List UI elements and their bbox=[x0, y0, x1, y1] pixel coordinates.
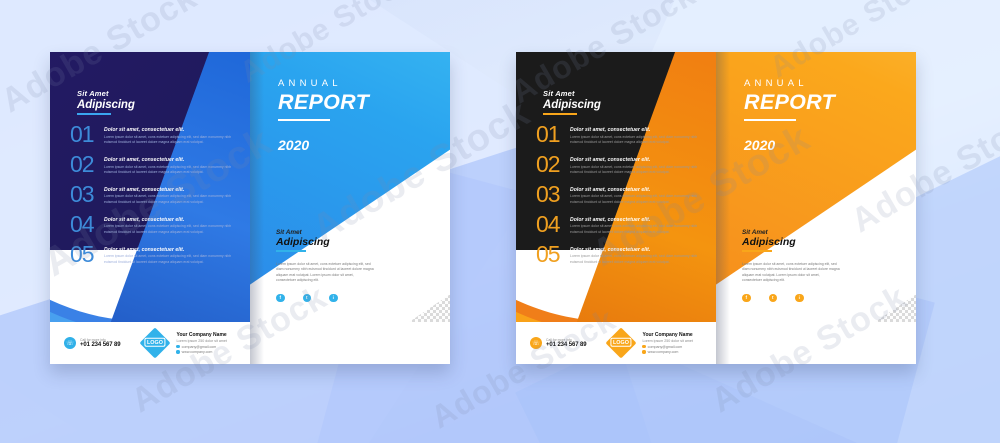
list-item: 03 Dolor sit amet, consectetuer elit. Lo… bbox=[536, 184, 702, 205]
blue-brochure-spread: Sit Amet Adipiscing 01 Dolor sit amet, c… bbox=[50, 52, 450, 364]
orange-cover-title-block: ANNUAL REPORT 2020 bbox=[744, 78, 835, 153]
list-item-body: Lorem ipsum dolor sit amet, cons ectetue… bbox=[570, 224, 702, 235]
company-name: Your Company Name bbox=[176, 332, 226, 338]
back-subtitle: Sit Amet bbox=[742, 229, 840, 236]
list-item-body: Lorem ipsum dolor sit amet, cons ectetue… bbox=[570, 194, 702, 205]
list-item-body: Lorem ipsum dolor sit amet, cons ectetue… bbox=[570, 135, 702, 146]
orange-social-icons: f t i bbox=[742, 294, 840, 303]
blue-contact-bar: ☏ Call for more info +01 234 567 89 LOGO… bbox=[50, 322, 250, 364]
cover-year: 2020 bbox=[744, 137, 835, 153]
orange-inside-content: Sit Amet Adipiscing 01 Dolor sit amet, c… bbox=[516, 52, 716, 364]
orange-inside-subtitle: Sit Amet bbox=[543, 89, 601, 98]
list-item-title: Dolor sit amet, consectetuer elit. bbox=[570, 217, 702, 223]
company-email-row: company@gmail.com bbox=[642, 345, 692, 349]
globe-icon bbox=[642, 350, 645, 353]
list-item: 01 Dolor sit amet, consectetuer elit. Lo… bbox=[536, 124, 702, 145]
list-item-body: Lorem ipsum dolor sit amet, cons ectetue… bbox=[104, 194, 236, 205]
phone-number: +01 234 567 89 bbox=[546, 342, 586, 348]
blue-phone-block: ☏ Call for more info +01 234 567 89 bbox=[64, 337, 120, 349]
logo-text: LOGO bbox=[611, 338, 632, 347]
list-item-title: Dolor sit amet, consectetuer elit. bbox=[570, 127, 702, 133]
blue-social-icons: f t i bbox=[276, 294, 374, 303]
company-email: company@gmail.com bbox=[648, 345, 683, 349]
orange-inside-title-rule bbox=[543, 113, 577, 115]
logo-badge: LOGO bbox=[606, 327, 637, 358]
list-item-body: Lorem ipsum dolor sit amet, cons ectetue… bbox=[104, 135, 236, 146]
list-item-body: Lorem ipsum dolor sit amet, cons ectetue… bbox=[104, 254, 236, 265]
orange-cover-bottom-band bbox=[716, 322, 916, 364]
phone-icon: ☏ bbox=[530, 337, 542, 349]
blue-inside-content: Sit Amet Adipiscing 01 Dolor sit amet, c… bbox=[50, 52, 250, 364]
company-website: www.company.com bbox=[182, 350, 213, 354]
list-item-number: 05 bbox=[70, 244, 104, 265]
blue-back-text-block: Sit Amet Adipiscing Lorem ipsum dolor si… bbox=[276, 229, 374, 302]
list-item-number: 03 bbox=[536, 184, 570, 205]
orange-inside-title: Adipiscing bbox=[543, 99, 601, 111]
back-body-text: Lorem ipsum dolor sit amet, cons ectetue… bbox=[742, 262, 840, 284]
list-item-body: Lorem ipsum dolor sit amet, cons ectetue… bbox=[104, 165, 236, 176]
company-tagline: Lorem ipsum 250 dolor sit amet bbox=[176, 339, 226, 343]
call-label: Call for more info bbox=[80, 338, 120, 342]
email-icon bbox=[176, 345, 179, 348]
blue-company-block: Your Company Name Lorem ipsum 250 dolor … bbox=[176, 332, 226, 354]
twitter-icon[interactable]: t bbox=[303, 294, 312, 303]
orange-gutter-shadow bbox=[716, 52, 730, 364]
list-item-number: 03 bbox=[70, 184, 104, 205]
phone-icon: ☏ bbox=[64, 337, 76, 349]
orange-numbered-list: 01 Dolor sit amet, consectetuer elit. Lo… bbox=[536, 124, 702, 274]
blue-cover-title-block: ANNUAL REPORT 2020 bbox=[278, 78, 369, 153]
list-item-body: Lorem ipsum dolor sit amet, cons ectetue… bbox=[570, 254, 702, 265]
company-email: company@gmail.com bbox=[182, 345, 217, 349]
company-tagline: Lorem ipsum 250 dolor sit amet bbox=[642, 339, 692, 343]
list-item-title: Dolor sit amet, consectetuer elit. bbox=[104, 187, 236, 193]
company-website-row: www.company.com bbox=[176, 350, 226, 354]
cover-report-label: REPORT bbox=[278, 90, 369, 115]
list-item-number: 02 bbox=[536, 154, 570, 175]
orange-back-text-block: Sit Amet Adipiscing Lorem ipsum dolor si… bbox=[742, 229, 840, 302]
orange-cover-page: ANNUAL REPORT 2020 Sit Amet Adipiscing L… bbox=[716, 52, 916, 364]
back-title-rule bbox=[276, 250, 306, 252]
call-label: Call for more info bbox=[546, 338, 586, 342]
list-item-title: Dolor sit amet, consectetuer elit. bbox=[570, 247, 702, 253]
logo-badge: LOGO bbox=[140, 327, 171, 358]
facebook-icon[interactable]: f bbox=[276, 294, 285, 303]
list-item-body: Lorem ipsum dolor sit amet, cons ectetue… bbox=[104, 224, 236, 235]
list-item-body: Lorem ipsum dolor sit amet, cons ectetue… bbox=[570, 165, 702, 176]
orange-inside-page: Sit Amet Adipiscing 01 Dolor sit amet, c… bbox=[516, 52, 716, 364]
company-name: Your Company Name bbox=[642, 332, 692, 338]
list-item-number: 04 bbox=[536, 214, 570, 235]
blue-cover-page: ANNUAL REPORT 2020 Sit Amet Adipiscing L… bbox=[250, 52, 450, 364]
twitter-icon[interactable]: t bbox=[769, 294, 778, 303]
orange-contact-bar: ☏ Call for more info +01 234 567 89 LOGO… bbox=[516, 322, 716, 364]
blue-numbered-list: 01 Dolor sit amet, consectetuer elit. Lo… bbox=[70, 124, 236, 274]
cover-annual-label: ANNUAL bbox=[744, 78, 835, 89]
list-item-number: 02 bbox=[70, 154, 104, 175]
cover-title-rule bbox=[278, 119, 330, 121]
blue-cover-bottom-band bbox=[250, 322, 450, 364]
list-item: 05 Dolor sit amet, consectetuer elit. Lo… bbox=[536, 244, 702, 265]
back-title: Adipiscing bbox=[276, 236, 374, 248]
list-item: 02 Dolor sit amet, consectetuer elit. Lo… bbox=[536, 154, 702, 175]
back-subtitle: Sit Amet bbox=[276, 229, 374, 236]
list-item: 03 Dolor sit amet, consectetuer elit. Lo… bbox=[70, 184, 236, 205]
list-item: 04 Dolor sit amet, consectetuer elit. Lo… bbox=[70, 214, 236, 235]
list-item-title: Dolor sit amet, consectetuer elit. bbox=[104, 157, 236, 163]
cover-year: 2020 bbox=[278, 137, 369, 153]
list-item: 01 Dolor sit amet, consectetuer elit. Lo… bbox=[70, 124, 236, 145]
list-item: 02 Dolor sit amet, consectetuer elit. Lo… bbox=[70, 154, 236, 175]
instagram-icon[interactable]: i bbox=[795, 294, 804, 303]
blue-inside-heading: Sit Amet Adipiscing bbox=[77, 89, 135, 115]
email-icon bbox=[642, 345, 645, 348]
list-item-title: Dolor sit amet, consectetuer elit. bbox=[104, 217, 236, 223]
blue-inside-subtitle: Sit Amet bbox=[77, 89, 135, 98]
company-website: www.company.com bbox=[648, 350, 679, 354]
blue-gutter-shadow bbox=[250, 52, 264, 364]
instagram-icon[interactable]: i bbox=[329, 294, 338, 303]
orange-company-block: Your Company Name Lorem ipsum 250 dolor … bbox=[642, 332, 692, 354]
cover-report-label: REPORT bbox=[744, 90, 835, 115]
facebook-icon[interactable]: f bbox=[742, 294, 751, 303]
logo-text: LOGO bbox=[145, 338, 166, 347]
globe-icon bbox=[176, 350, 179, 353]
company-website-row: www.company.com bbox=[642, 350, 692, 354]
list-item-number: 05 bbox=[536, 244, 570, 265]
list-item-title: Dolor sit amet, consectetuer elit. bbox=[104, 127, 236, 133]
orange-inside-heading: Sit Amet Adipiscing bbox=[543, 89, 601, 115]
orange-brochure-spread: Sit Amet Adipiscing 01 Dolor sit amet, c… bbox=[516, 52, 916, 364]
back-body-text: Lorem ipsum dolor sit amet, cons ectetue… bbox=[276, 262, 374, 284]
list-item-title: Dolor sit amet, consectetuer elit. bbox=[570, 157, 702, 163]
list-item: 05 Dolor sit amet, consectetuer elit. Lo… bbox=[70, 244, 236, 265]
cover-annual-label: ANNUAL bbox=[278, 78, 369, 89]
list-item-number: 04 bbox=[70, 214, 104, 235]
list-item: 04 Dolor sit amet, consectetuer elit. Lo… bbox=[536, 214, 702, 235]
back-title-rule bbox=[742, 250, 772, 252]
list-item-number: 01 bbox=[536, 124, 570, 145]
cover-title-rule bbox=[744, 119, 796, 121]
list-item-title: Dolor sit amet, consectetuer elit. bbox=[570, 187, 702, 193]
blue-inside-title-rule bbox=[77, 113, 111, 115]
list-item-title: Dolor sit amet, consectetuer elit. bbox=[104, 247, 236, 253]
back-title: Adipiscing bbox=[742, 236, 840, 248]
blue-inside-title: Adipiscing bbox=[77, 99, 135, 111]
orange-phone-block: ☏ Call for more info +01 234 567 89 bbox=[530, 337, 586, 349]
company-email-row: company@gmail.com bbox=[176, 345, 226, 349]
phone-number: +01 234 567 89 bbox=[80, 342, 120, 348]
list-item-number: 01 bbox=[70, 124, 104, 145]
blue-inside-page: Sit Amet Adipiscing 01 Dolor sit amet, c… bbox=[50, 52, 250, 364]
